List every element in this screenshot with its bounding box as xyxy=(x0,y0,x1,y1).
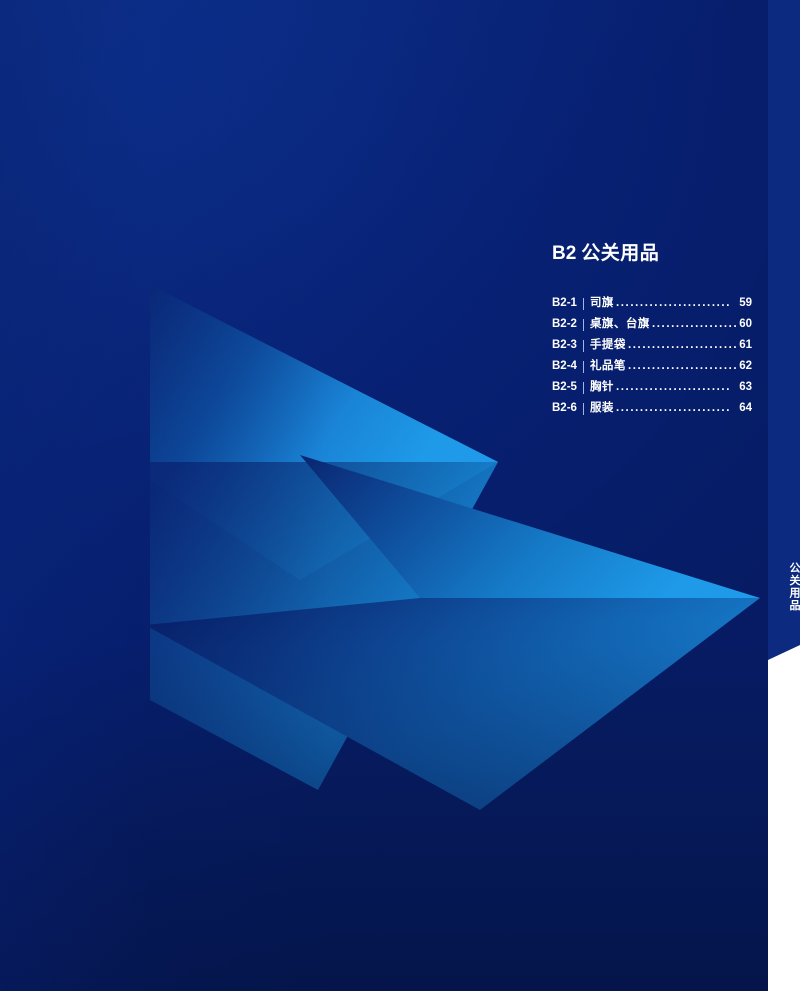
toc-dot-leader: ........................ xyxy=(628,356,738,377)
toc-code: B2-5 xyxy=(552,377,577,398)
toc-separator-rule xyxy=(583,319,584,331)
toc-label: 胸针 xyxy=(590,377,614,398)
toc-item-b2-4[interactable]: B2-4 礼品笔 ........................ 62 xyxy=(552,356,752,377)
side-index-tab-label: 公关用品 xyxy=(768,562,800,612)
toc-dot-leader: ........................ xyxy=(652,314,738,335)
toc-dot-leader: ........................ xyxy=(616,293,738,314)
side-index-tab[interactable]: 公关用品 xyxy=(768,0,800,660)
toc-page-number: 63 xyxy=(739,377,752,398)
toc-code: B2-2 xyxy=(552,314,577,335)
double-chevron-arrow-graphic xyxy=(0,0,768,991)
toc-page-number: 60 xyxy=(739,314,752,335)
cover-page: B2公关用品 B2-1 司旗 ........................ … xyxy=(0,0,800,991)
toc-separator-rule xyxy=(583,403,584,415)
toc-code: B2-3 xyxy=(552,335,577,356)
page-background: B2公关用品 B2-1 司旗 ........................ … xyxy=(0,0,768,991)
toc-separator-rule xyxy=(583,382,584,394)
toc-item-b2-5[interactable]: B2-5 胸针 ........................ 63 xyxy=(552,377,752,398)
toc-item-b2-6[interactable]: B2-6 服装 ........................ 64 xyxy=(552,398,752,419)
toc-label: 桌旗、台旗 xyxy=(590,314,650,335)
toc-list: B2-1 司旗 ........................ 59 B2-2… xyxy=(552,293,752,419)
side-index-tab-shape xyxy=(768,0,800,660)
toc-label: 司旗 xyxy=(590,293,614,314)
toc-separator-rule xyxy=(583,298,584,310)
toc-separator-rule xyxy=(583,340,584,352)
toc-page-number: 64 xyxy=(739,398,752,419)
toc-page-number: 59 xyxy=(739,293,752,314)
page-title-code: B2 xyxy=(552,243,576,264)
toc-separator-rule xyxy=(583,361,584,373)
page-title-text: 公关用品 xyxy=(581,243,659,264)
section-index: B2公关用品 B2-1 司旗 ........................ … xyxy=(552,238,752,419)
toc-label: 礼品笔 xyxy=(590,356,626,377)
toc-label: 服装 xyxy=(590,398,614,419)
toc-item-b2-1[interactable]: B2-1 司旗 ........................ 59 xyxy=(552,293,752,314)
toc-page-number: 62 xyxy=(739,356,752,377)
toc-code: B2-1 xyxy=(552,293,577,314)
artwork-left-fade xyxy=(0,0,330,991)
page-title: B2公关用品 xyxy=(552,238,752,265)
toc-page-number: 61 xyxy=(739,335,752,356)
toc-code: B2-6 xyxy=(552,398,577,419)
toc-dot-leader: ........................ xyxy=(628,335,738,356)
toc-item-b2-2[interactable]: B2-2 桌旗、台旗 ........................ 60 xyxy=(552,314,752,335)
toc-dot-leader: ........................ xyxy=(616,398,738,419)
toc-code: B2-4 xyxy=(552,356,577,377)
toc-item-b2-3[interactable]: B2-3 手提袋 ........................ 61 xyxy=(552,335,752,356)
toc-label: 手提袋 xyxy=(590,335,626,356)
toc-dot-leader: ........................ xyxy=(616,377,738,398)
